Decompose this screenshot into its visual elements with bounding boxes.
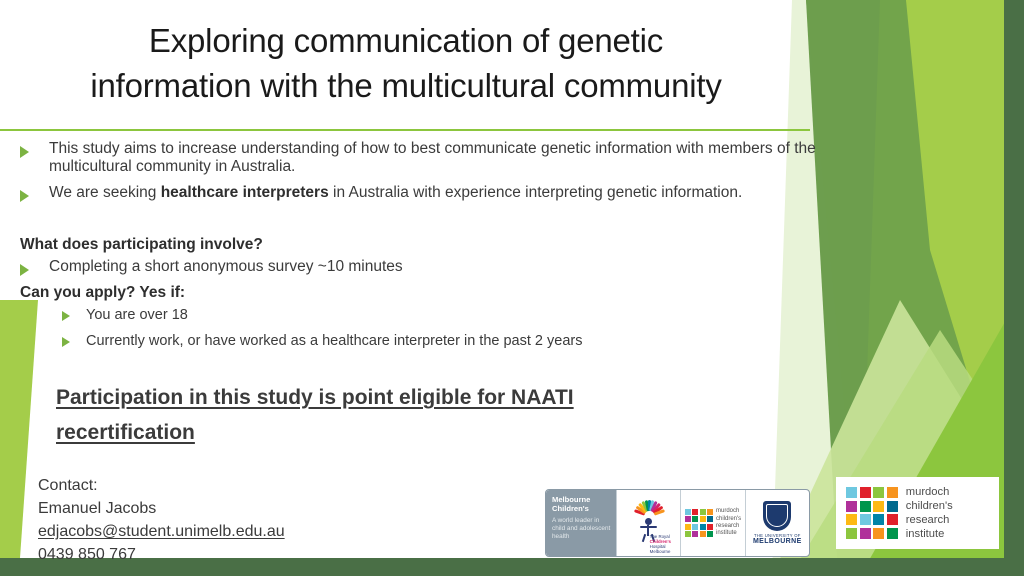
royal-childrens-hospital-logo: The Royal Children's Hospital Melbourne	[620, 494, 678, 552]
section-2-bullet-2-text: Currently work, or have worked as a heal…	[86, 332, 830, 350]
contact-block: Contact: Emanuel Jacobs edjacobs@student…	[38, 474, 285, 566]
figure-leg-left-icon	[641, 534, 645, 542]
title-line-2: information with the multicultural commu…	[0, 63, 812, 108]
mcri-word: murdoch	[716, 508, 741, 515]
melbourne-childrens-panel: Melbourne Children's A world leader in c…	[546, 490, 616, 556]
section-1-heading: What does participating involve?	[20, 236, 830, 254]
page-title: Exploring communication of genetic infor…	[0, 18, 812, 108]
triangle-bullet-icon	[62, 311, 70, 321]
mcri-tile	[873, 487, 884, 498]
mcri-tile	[700, 524, 706, 530]
figure-head-icon	[645, 518, 652, 525]
intro-bullet-2-bold: healthcare interpreters	[161, 184, 329, 201]
mcri-tile	[846, 528, 857, 539]
mcri-tile	[873, 528, 884, 539]
triangle-bullet-icon	[20, 264, 29, 276]
title-line-1: Exploring communication of genetic	[0, 18, 812, 63]
mcri-tile	[707, 524, 713, 530]
mcri-tile	[692, 531, 698, 537]
mcri-tile	[707, 516, 713, 522]
right-edge-strip	[1004, 0, 1024, 576]
intro-bullet-2: We are seeking healthcare interpreters i…	[0, 184, 830, 202]
section-2-bullet-2: Currently work, or have worked as a heal…	[0, 332, 830, 350]
university-of-melbourne-logo-cell: THE UNIVERSITY OF MELBOURNE	[745, 490, 809, 556]
contact-phone: 0439 850 767	[38, 543, 285, 566]
slide-body: This study aims to increase understandin…	[0, 140, 830, 450]
section-2-bullet-1: You are over 18	[0, 306, 830, 324]
melbourne-childrens-title-1: Melbourne	[552, 495, 611, 504]
mcri-tile	[887, 528, 898, 539]
unimelb-crest-icon	[763, 501, 791, 531]
contact-email-link[interactable]: edjacobs@student.unimelb.edu.au	[38, 520, 285, 543]
mcri-tile	[707, 509, 713, 515]
mcri-tile	[873, 514, 884, 525]
mcri-tile	[685, 516, 691, 522]
mcri-tile	[685, 531, 691, 537]
mcri-word: children's	[716, 516, 741, 523]
mcri-tile	[707, 531, 713, 537]
section-spacer	[0, 210, 830, 236]
mcri-word: research	[906, 513, 953, 527]
contact-name: Emanuel Jacobs	[38, 497, 285, 520]
mcri-tile	[846, 501, 857, 512]
mcri-tile	[860, 487, 871, 498]
mcri-word: children's	[906, 499, 953, 513]
triangle-bullet-icon	[20, 190, 29, 202]
mcri-tile	[887, 514, 898, 525]
mcri-small-logo-cell: murdochchildren'sresearchinstitute	[680, 490, 744, 556]
mcri-word: institute	[906, 527, 953, 541]
melbourne-childrens-title-2: Children's	[552, 504, 611, 513]
mcri-tile	[887, 501, 898, 512]
contact-label: Contact:	[38, 474, 285, 497]
mcri-tile	[700, 509, 706, 515]
mcri-tile	[692, 516, 698, 522]
intro-bullet-2-post: in Australia with experience interpretin…	[329, 184, 743, 201]
mcri-tile-grid	[846, 487, 898, 539]
naati-statement: Participation in this study is point eli…	[56, 380, 830, 450]
royal-childrens-hospital-logo-cell: The Royal Children's Hospital Melbourne	[616, 490, 680, 556]
mcri-tile	[860, 528, 871, 539]
title-divider	[0, 129, 810, 131]
naati-line-1: Participation in this study is point eli…	[56, 386, 574, 409]
mcri-tile	[692, 524, 698, 530]
mcri-word: institute	[716, 530, 741, 537]
unimelb-line-2: MELBOURNE	[753, 538, 802, 545]
mcri-tile	[887, 487, 898, 498]
mcri-tile	[846, 514, 857, 525]
intro-bullet-1-text: This study aims to increase understandin…	[49, 140, 830, 176]
rch-line-4: Melbourne	[650, 549, 671, 554]
section-1-bullet-1-text: Completing a short anonymous survey ~10 …	[49, 258, 830, 276]
university-of-melbourne-logo: THE UNIVERSITY OF MELBOURNE	[753, 501, 802, 545]
section-2-bullet-1-text: You are over 18	[86, 306, 830, 324]
triangle-bullet-icon	[20, 146, 29, 158]
naati-line-2: recertification	[56, 421, 195, 444]
intro-bullet-2-text: We are seeking healthcare interpreters i…	[49, 184, 830, 202]
mcri-word: research	[716, 523, 741, 530]
presentation-slide: Exploring communication of genetic infor…	[0, 0, 1024, 576]
mcri-tile	[873, 501, 884, 512]
mcri-wordmark: murdochchildren'sresearchinstitute	[906, 485, 953, 541]
mcri-tile	[692, 509, 698, 515]
mcri-tile	[700, 531, 706, 537]
section-2-heading: Can you apply? Yes if:	[20, 284, 830, 302]
mcri-tile	[846, 487, 857, 498]
mcri-tile	[685, 509, 691, 515]
mcri-logo-small: murdochchildren'sresearchinstitute	[685, 508, 741, 538]
section-1-bullet-1: Completing a short anonymous survey ~10 …	[0, 258, 830, 276]
bg-wedge-light-1	[906, 0, 1006, 500]
intro-bullet-1: This study aims to increase understandin…	[0, 140, 830, 176]
mcri-tile	[860, 514, 871, 525]
melbourne-childrens-tagline: A world leader in child and adolescent h…	[552, 517, 611, 542]
intro-bullet-2-pre: We are seeking	[49, 184, 161, 201]
mcri-tile	[685, 524, 691, 530]
mcri-tile	[700, 516, 706, 522]
royal-childrens-wordmark: The Royal Children's Hospital Melbourne	[650, 534, 678, 554]
triangle-bullet-icon	[62, 337, 70, 347]
mcri-word: murdoch	[906, 485, 953, 499]
partner-logo-bar: Melbourne Children's A world leader in c…	[545, 489, 810, 557]
mcri-tile-grid	[685, 509, 713, 537]
mcri-wordmark: murdochchildren'sresearchinstitute	[716, 508, 741, 538]
mcri-logo-large: murdochchildren'sresearchinstitute	[836, 477, 999, 549]
mcri-tile	[860, 501, 871, 512]
